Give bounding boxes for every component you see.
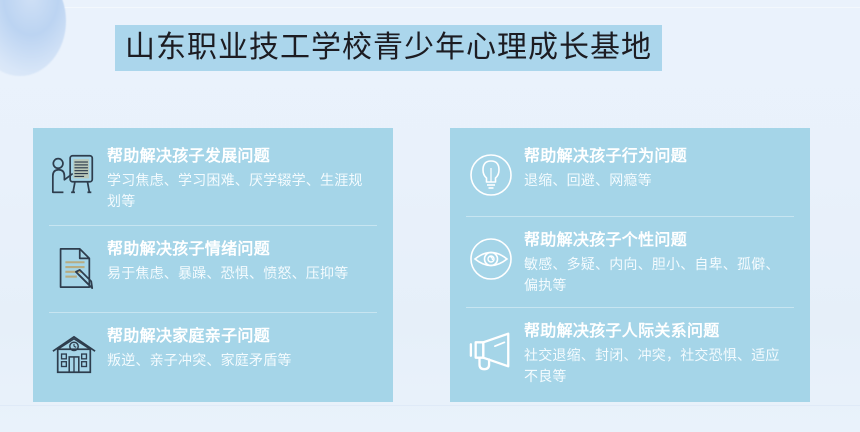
page-title-band: 山东职业技工学校青少年心理成长基地 [115,25,662,71]
list-item-text: 帮助解决孩子个性问题 敏感、多疑、内向、胆小、自卑、孤僻、偏执等 [522,220,798,297]
list-item-text: 帮助解决孩子发展问题 学习焦虑、学习困难、厌学辍学、生涯规划等 [105,136,381,213]
list-item[interactable]: 帮助解决孩子人际关系问题 社交退缩、封闭、冲突，社交恐惧、适应不良等 [460,307,798,398]
background-rule-top [0,7,860,8]
list-item[interactable]: 帮助解决孩子发展问题 学习焦虑、学习困难、厌学辍学、生涯规划等 [43,132,381,225]
list-item[interactable]: 帮助解决家庭亲子问题 叛逆、亲子冲突、家庭矛盾等 [43,312,381,398]
document-pencil-icon [43,237,105,299]
list-item-text: 帮助解决孩子人际关系问题 社交退缩、封闭、冲突，社交恐惧、适应不良等 [522,311,798,388]
list-item-title: 帮助解决孩子发展问题 [107,146,381,166]
eye-icon [460,228,522,290]
list-item-title: 帮助解决孩子情绪问题 [107,239,381,259]
right-feature-card: 帮助解决孩子行为问题 退缩、回避、网瘾等 帮助解决孩子个性问题 敏感、多疑、内向… [450,128,810,402]
lightbulb-icon [460,144,522,206]
left-feature-card: 帮助解决孩子发展问题 学习焦虑、学习困难、厌学辍学、生涯规划等 [33,128,393,402]
list-item[interactable]: 帮助解决孩子情绪问题 易于焦虑、暴躁、恐惧、愤怒、压抑等 [43,225,381,311]
list-item-title: 帮助解决家庭亲子问题 [107,326,381,346]
list-item-desc: 叛逆、亲子冲突、家庭矛盾等 [107,351,375,372]
list-item[interactable]: 帮助解决孩子行为问题 退缩、回避、网瘾等 [460,132,798,216]
list-item-desc: 退缩、回避、网瘾等 [524,171,792,192]
list-item-title: 帮助解决孩子个性问题 [524,230,798,250]
list-item-title: 帮助解决孩子行为问题 [524,146,798,166]
list-item-title: 帮助解决孩子人际关系问题 [524,321,798,341]
presenter-board-icon [43,144,105,206]
megaphone-icon [460,319,522,381]
list-item[interactable]: 帮助解决孩子个性问题 敏感、多疑、内向、胆小、自卑、孤僻、偏执等 [460,216,798,307]
list-item-text: 帮助解决孩子行为问题 退缩、回避、网瘾等 [522,136,798,192]
list-item-desc: 学习焦虑、学习困难、厌学辍学、生涯规划等 [107,171,375,213]
list-item-text: 帮助解决孩子情绪问题 易于焦虑、暴躁、恐惧、愤怒、压抑等 [105,229,381,285]
poster-canvas: 山东职业技工学校青少年心理成长基地 [0,0,860,432]
page-title: 山东职业技工学校青少年心理成长基地 [125,33,652,63]
house-icon [43,324,105,386]
list-item-desc: 社交退缩、封闭、冲突，社交恐惧、适应不良等 [524,346,792,388]
list-item-desc: 易于焦虑、暴躁、恐惧、愤怒、压抑等 [107,264,375,285]
list-item-desc: 敏感、多疑、内向、胆小、自卑、孤僻、偏执等 [524,255,792,297]
background-rule-bottom [0,405,860,406]
list-item-text: 帮助解决家庭亲子问题 叛逆、亲子冲突、家庭矛盾等 [105,316,381,372]
